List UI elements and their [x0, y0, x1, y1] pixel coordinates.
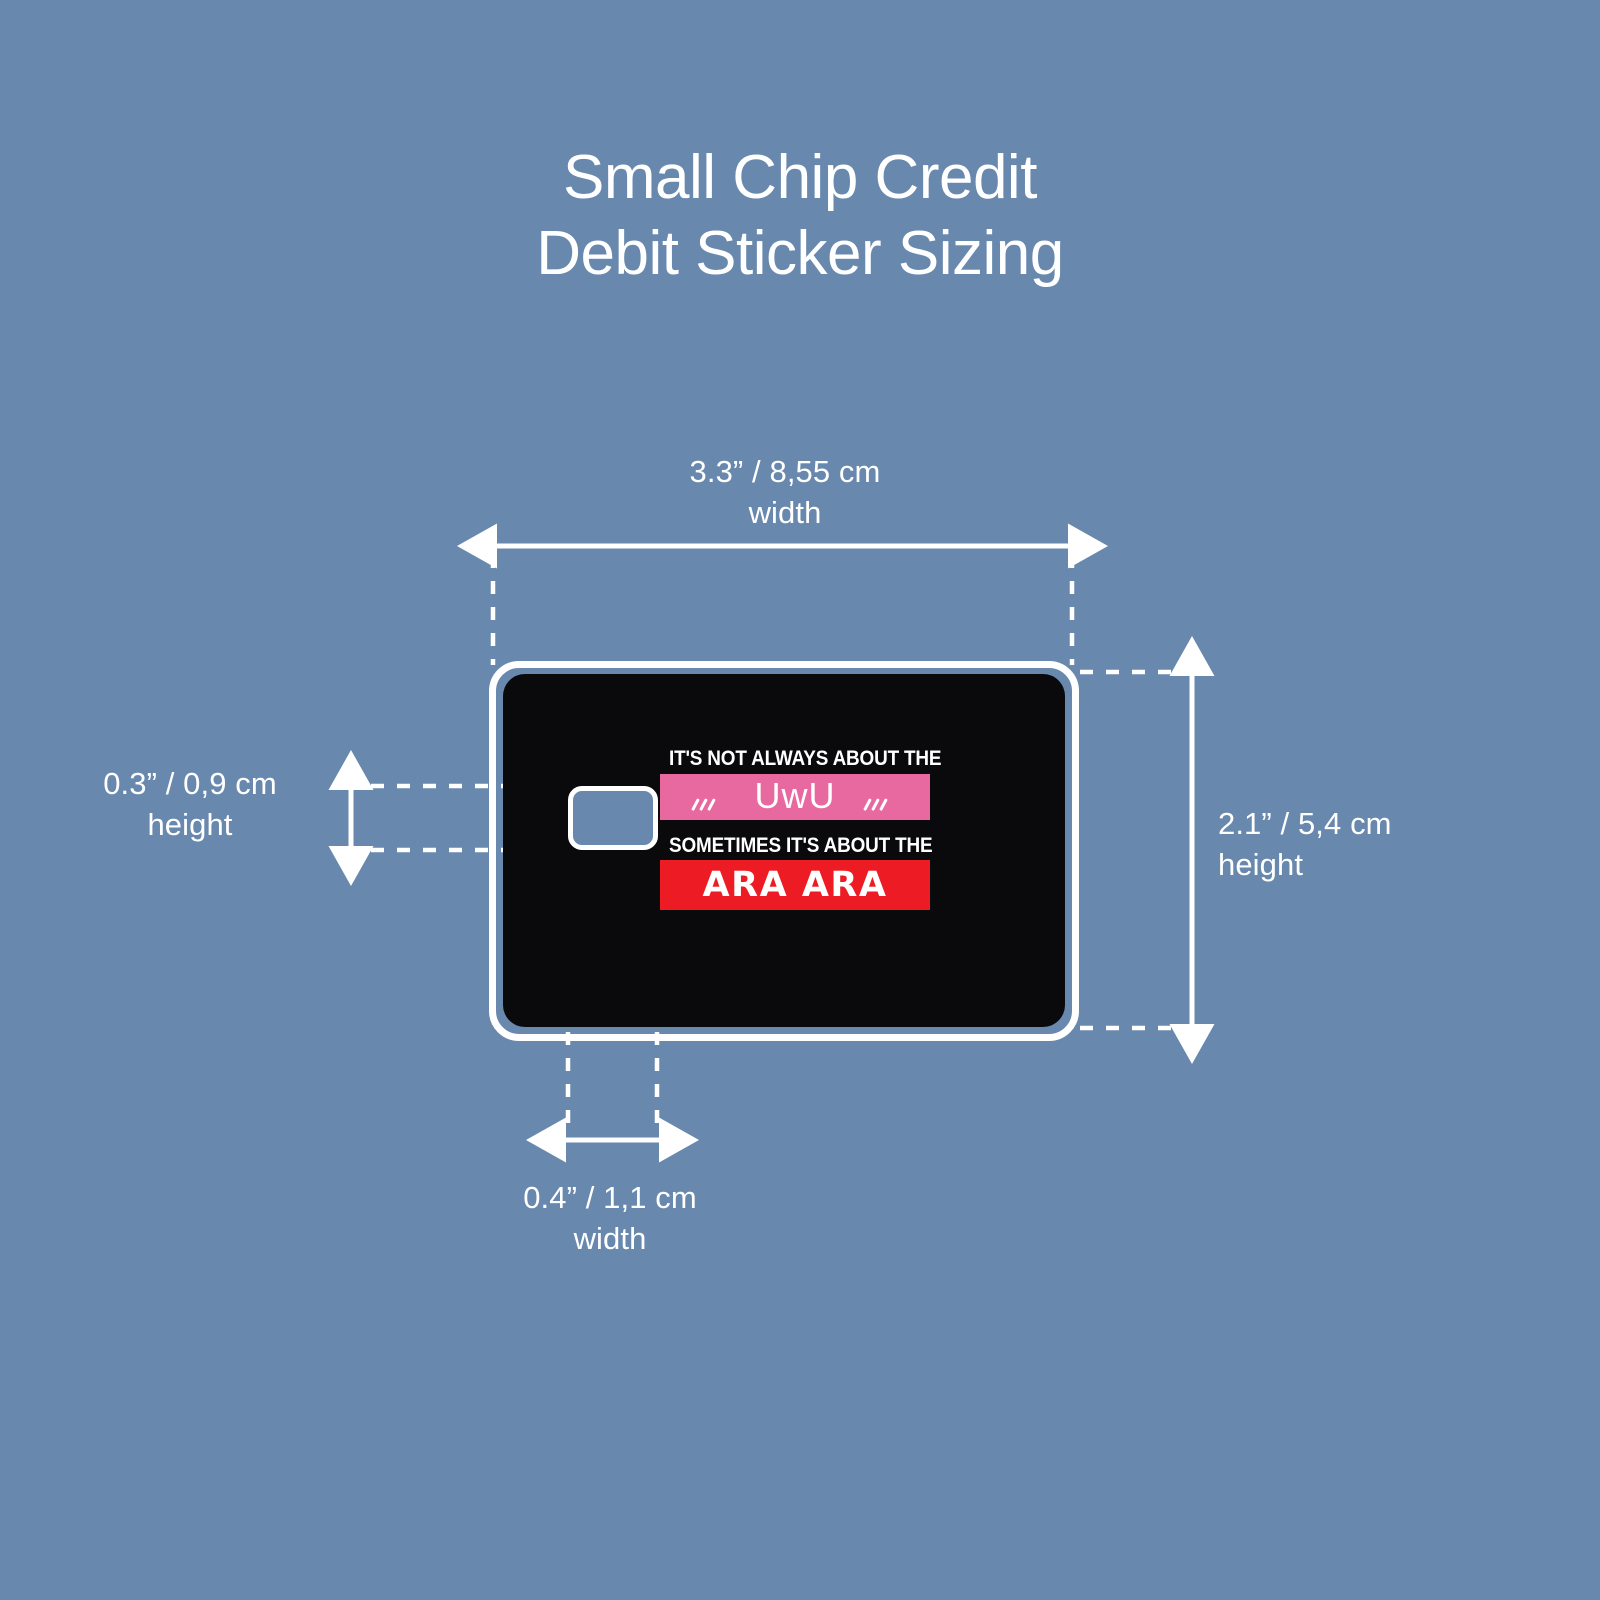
- artwork-banner-uwu: UwU: [660, 774, 930, 820]
- chip-cutout: [568, 786, 658, 850]
- dimension-label-right-height: 2.1” / 5,4 cm height: [1218, 804, 1558, 886]
- artwork-line-1: IT'S NOT ALWAYS ABOUT THE: [669, 748, 899, 770]
- dimension-label-left-height: 0.3” / 0,9 cm height: [50, 764, 330, 846]
- sparkle-left-icon: [692, 798, 726, 818]
- card-artwork: IT'S NOT ALWAYS ABOUT THE UwU SOMETIMES …: [660, 748, 930, 910]
- sparkle-right-icon: [864, 798, 898, 818]
- dimension-label-bottom-width: 0.4” / 1,1 cm width: [430, 1178, 790, 1260]
- artwork-banner-uwu-text: UwU: [755, 778, 836, 814]
- artwork-banner-ara: ARA ARA: [660, 860, 930, 910]
- sizing-diagram: Small Chip Credit Debit Sticker Sizing 3…: [0, 0, 1600, 1600]
- dimension-label-top-width: 3.3” / 8,55 cm width: [560, 452, 1010, 534]
- page-title: Small Chip Credit Debit Sticker Sizing: [0, 140, 1600, 291]
- artwork-line-2: SOMETIMES IT'S ABOUT THE: [669, 835, 899, 857]
- artwork-banner-ara-text: ARA ARA: [703, 868, 888, 903]
